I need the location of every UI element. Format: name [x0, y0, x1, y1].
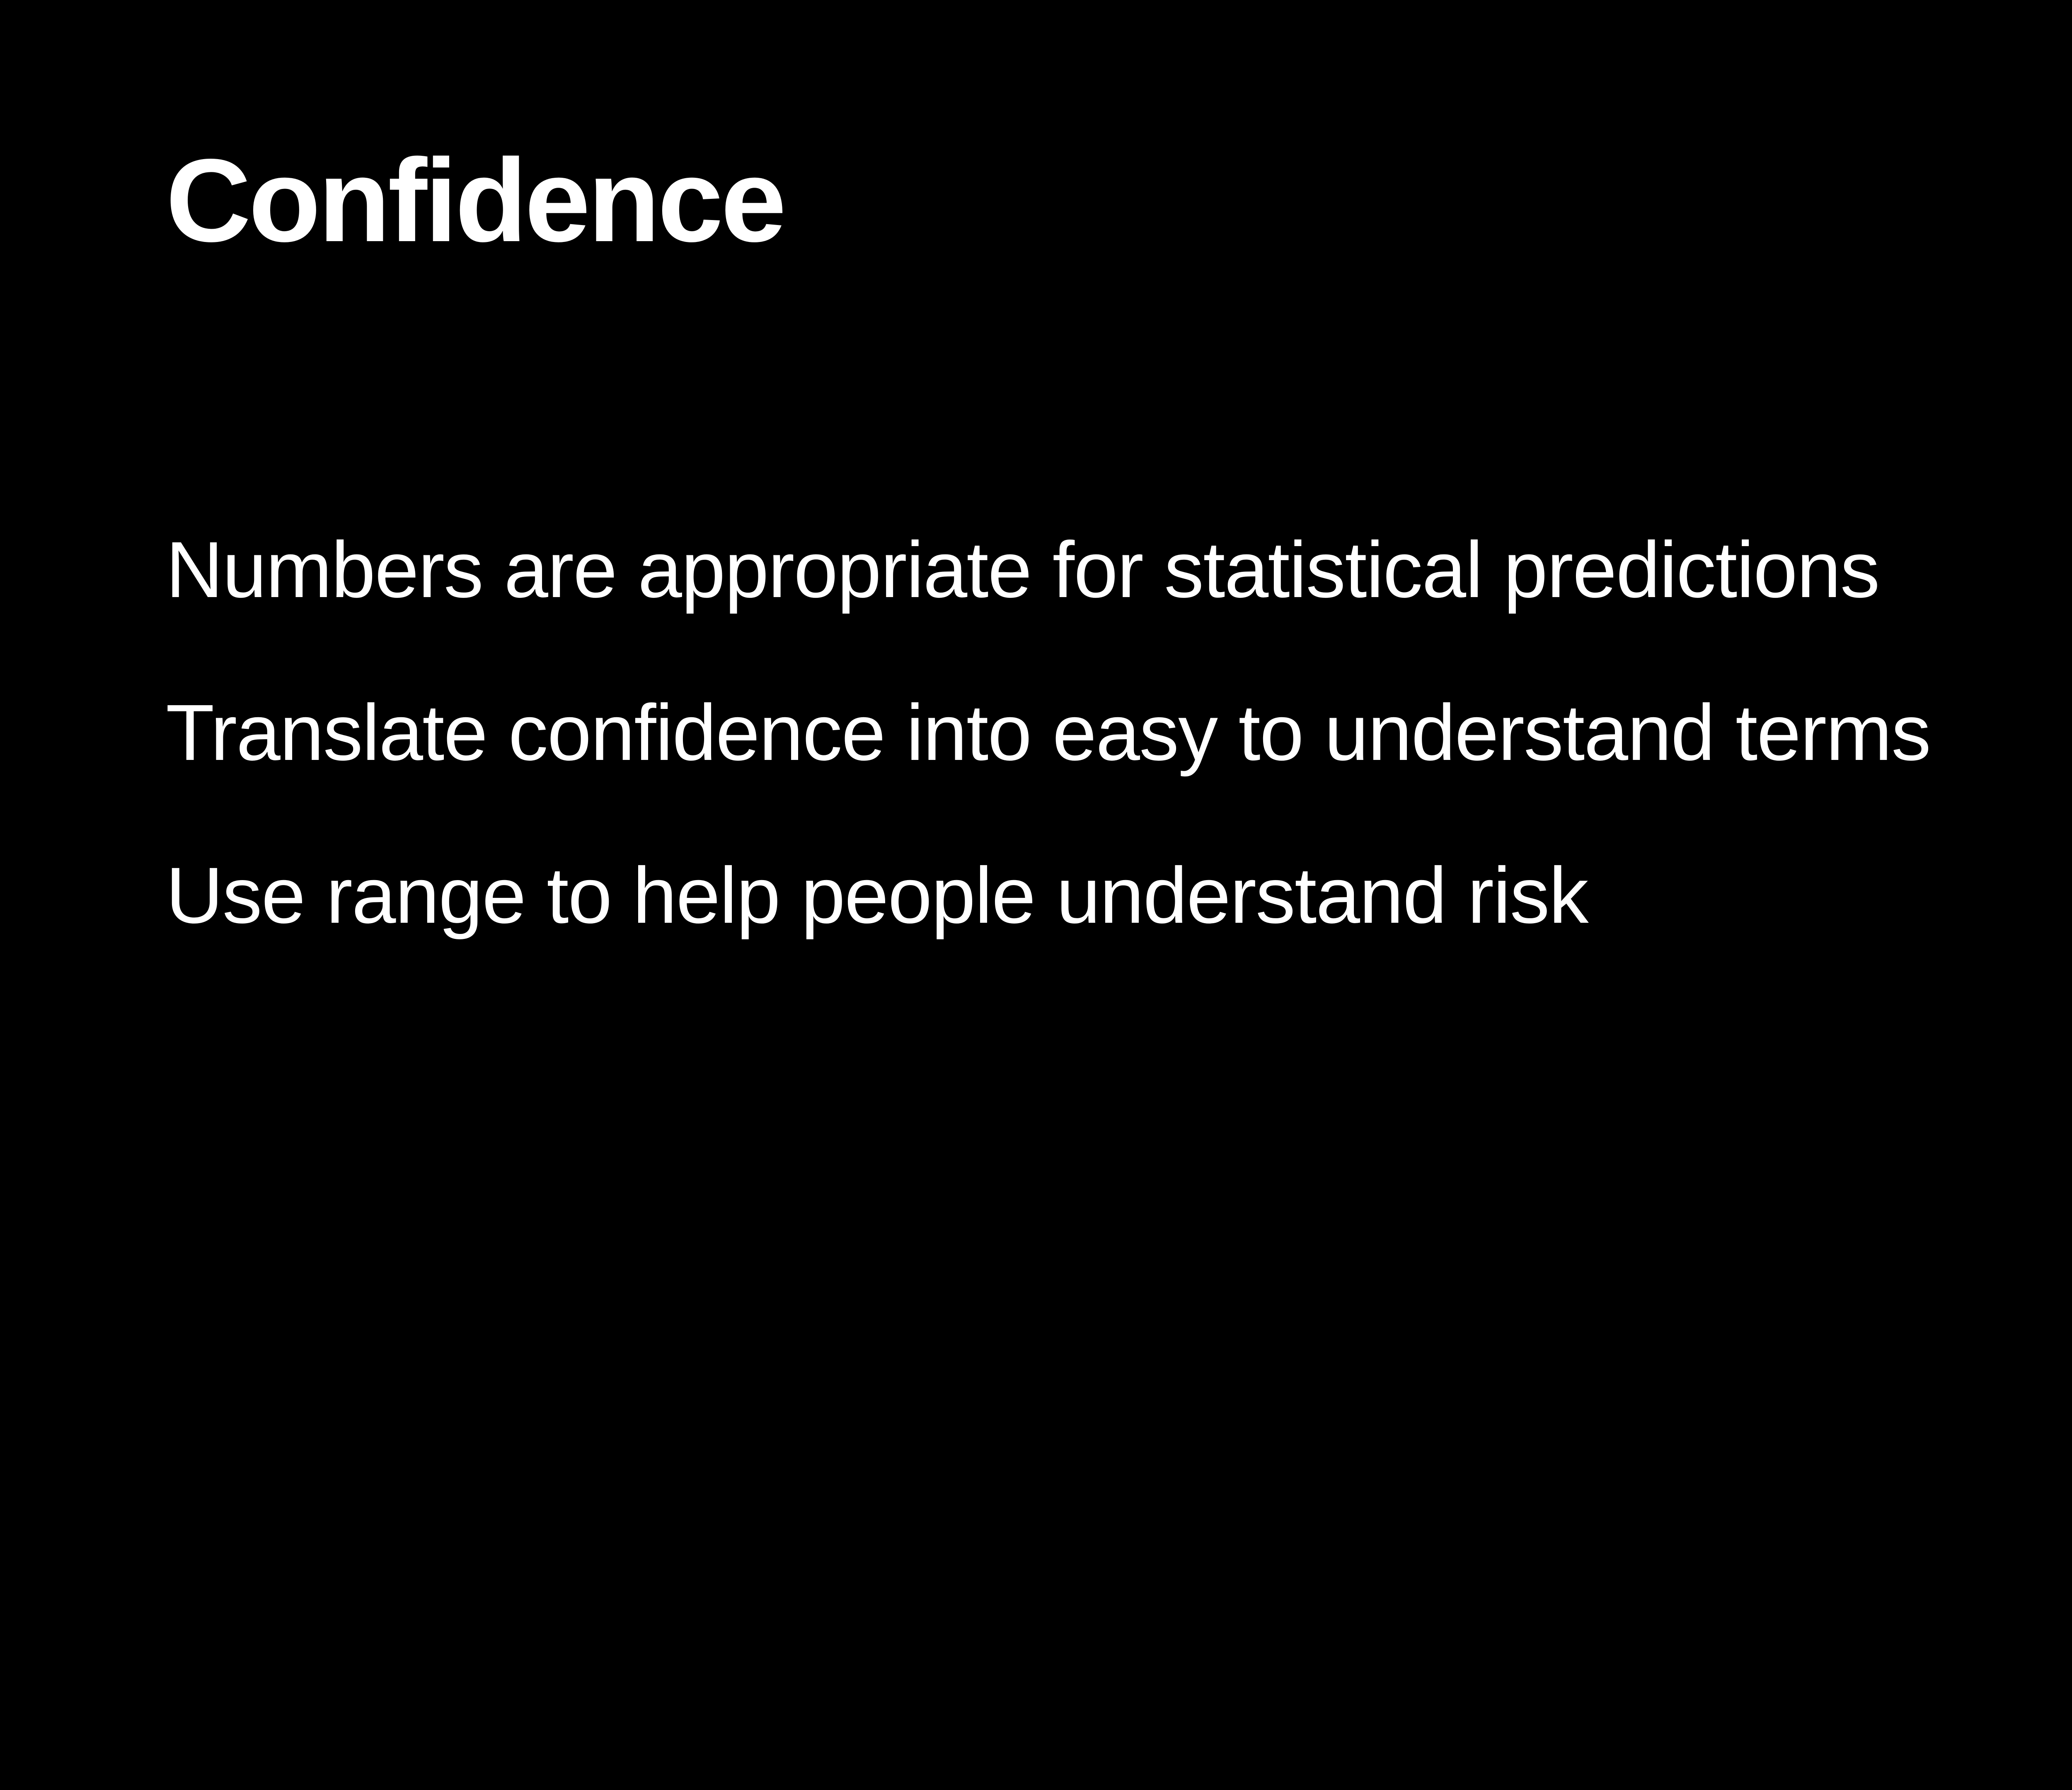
bullet-item-3: Use range to help people understand risk — [166, 814, 2072, 977]
bullet-item-1: Numbers are appropriate for statistical … — [166, 488, 2072, 651]
slide-title: Confidence — [166, 137, 784, 265]
presentation-slide: Confidence Numbers are appropriate for s… — [0, 0, 2072, 1790]
bullet-list: Numbers are appropriate for statistical … — [166, 488, 2072, 977]
bullet-item-2: Translate confidence into easy to unders… — [166, 651, 2072, 814]
